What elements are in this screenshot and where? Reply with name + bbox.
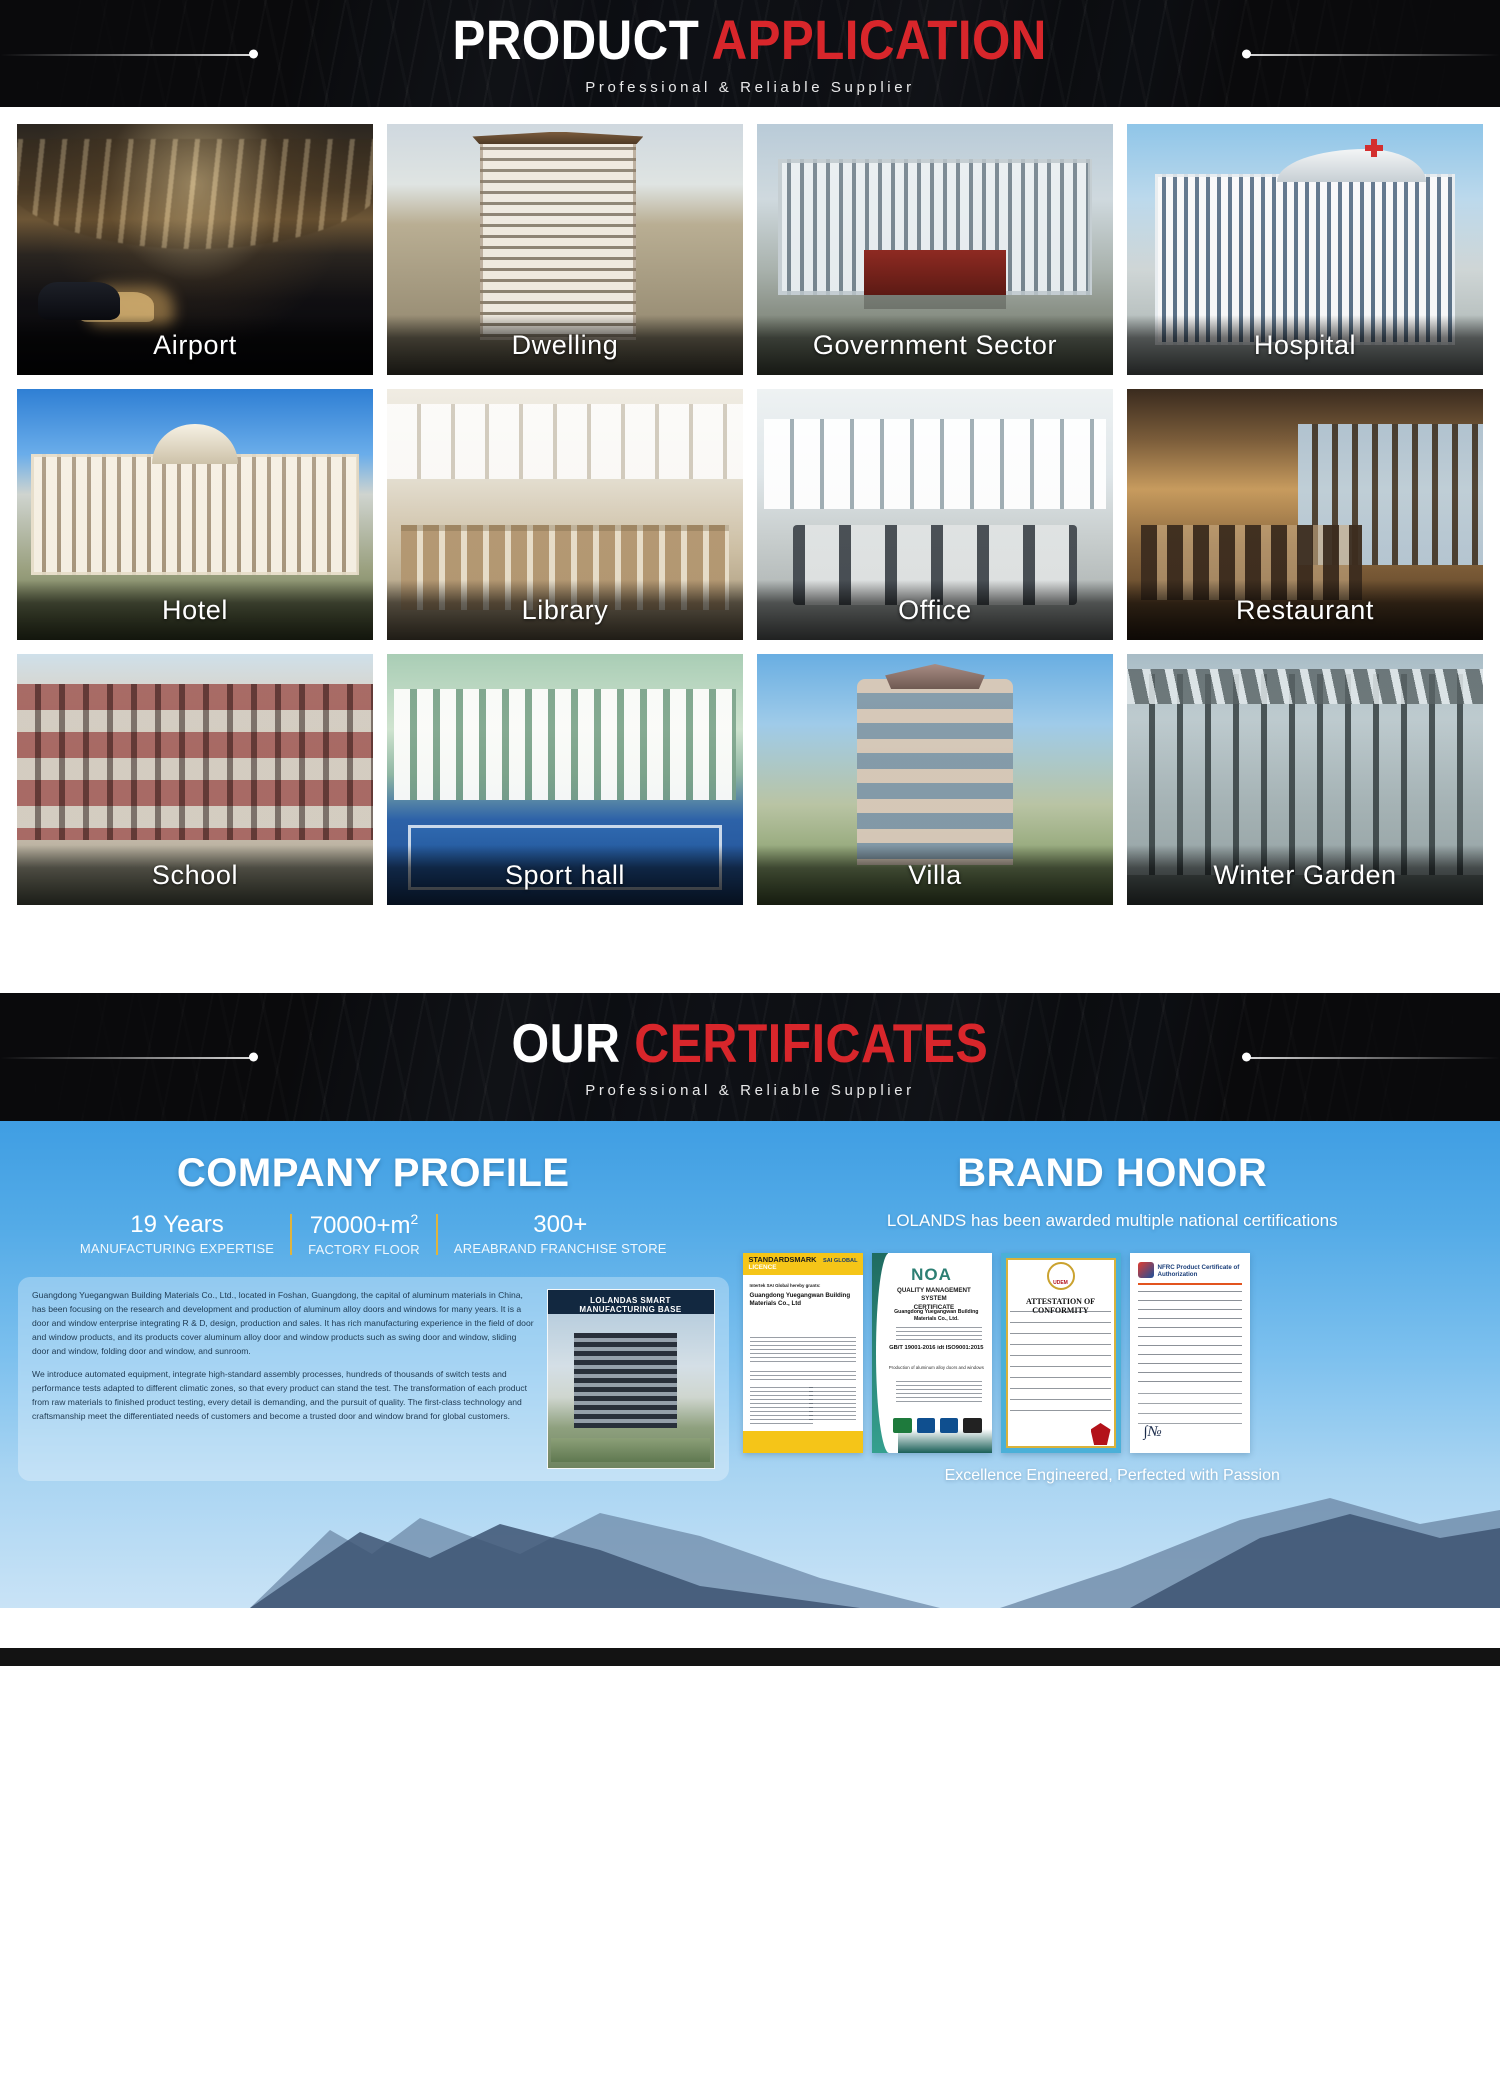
page-subtitle: Professional & Reliable Supplier <box>412 79 1087 96</box>
application-card[interactable]: Hospital <box>1127 124 1483 375</box>
footer-spacer <box>0 1608 1500 1648</box>
grant-text: Intertek SAI Global hereby grants: <box>750 1283 856 1288</box>
stat-years: 19 Years MANUFACTURING EXPERTISE <box>64 1212 290 1257</box>
application-card[interactable]: Hotel <box>17 389 373 640</box>
stat-factory-value: 70000+m2 <box>308 1212 420 1239</box>
application-card[interactable]: Office <box>757 389 1113 640</box>
noa-logo: NOA <box>872 1265 992 1285</box>
nfrc-logo-icon <box>1138 1262 1154 1278</box>
page-title-red: APPLICATION <box>712 8 1047 71</box>
company-profile-card: Guangdong Yuegangwan Building Materials … <box>18 1277 729 1481</box>
factory-photo-image <box>548 1314 714 1468</box>
certificate-udem-conformity[interactable]: ATTESTATION OF CONFORMITY <box>1001 1253 1121 1453</box>
application-label: Dwelling <box>387 315 743 375</box>
company-profile-title: COMPANY PROFILE <box>18 1151 729 1196</box>
company-profile-paragraph-1: Guangdong Yuegangwan Building Materials … <box>32 1289 535 1359</box>
brand-honor-title: BRAND HONOR <box>743 1151 1483 1196</box>
application-card[interactable]: Winter Garden <box>1127 654 1483 905</box>
certificate-standardsmark[interactable]: STANDARDSMARK LICENCE SAI GLOBAL Interte… <box>743 1253 863 1453</box>
udem-seal-icon <box>1047 1262 1075 1290</box>
udem-detail-rows <box>1010 1311 1111 1417</box>
scheme-line <box>750 1371 856 1381</box>
stat-factory-label: FACTORY FLOOR <box>308 1242 420 1257</box>
certificates-title-red: CERTIFICATES <box>634 1012 988 1074</box>
certificate-header-band: STANDARDSMARK LICENCE SAI GLOBAL <box>743 1253 863 1275</box>
sai-global-logo: SAI GLOBAL <box>823 1258 858 1264</box>
certificate-thumbnails: STANDARDSMARK LICENCE SAI GLOBAL Interte… <box>743 1253 1483 1453</box>
application-card[interactable]: Government Sector <box>757 124 1113 375</box>
our-certificates-banner: OUR CERTIFICATES Professional & Reliable… <box>0 993 1500 1121</box>
page-title-white: PRODUCT <box>453 8 712 71</box>
stat-stores-label: AREABRAND FRANCHISE STORE <box>454 1241 667 1256</box>
bottom-strip <box>0 1648 1500 1666</box>
company-profile-column: COMPANY PROFILE 19 Years MANUFACTURING E… <box>18 1151 729 1485</box>
application-card[interactable]: Airport <box>17 124 373 375</box>
application-label: School <box>17 845 373 905</box>
application-label: Villa <box>757 845 1113 905</box>
certificate-noa-iso9001[interactable]: NOA QUALITY MANAGEMENT SYSTEMCERTIFICATE… <box>872 1253 992 1453</box>
application-card[interactable]: School <box>17 654 373 905</box>
application-grid-section: AirportDwellingGovernment SectorHospital… <box>0 107 1500 905</box>
application-label: Sport hall <box>387 845 743 905</box>
application-card[interactable]: Dwelling <box>387 124 743 375</box>
noa-address-lines <box>896 1327 982 1341</box>
nfrc-signature: ∫№ <box>1144 1424 1162 1441</box>
product-application-banner: PRODUCT APPLICATION Professional & Relia… <box>0 0 1500 107</box>
detail-lines <box>809 1387 856 1421</box>
certificates-subtitle: Professional & Reliable Supplier <box>479 1082 1021 1099</box>
qr-code <box>963 1418 981 1433</box>
noa-company: Guangdong Yuegangwan Building Materials … <box>888 1309 984 1323</box>
nfrc-field-rows <box>1138 1291 1242 1383</box>
stat-factory-floor: 70000+m2 FACTORY FLOOR <box>292 1212 436 1257</box>
certificate-company: Guangdong Yuegangwan Building Materials … <box>750 1292 856 1308</box>
application-label: Hospital <box>1127 315 1483 375</box>
factory-photo: LOLANDAS SMART MANUFACTURING BASE <box>547 1289 715 1469</box>
company-certificates-panel: COMPANY PROFILE 19 Years MANUFACTURING E… <box>0 1121 1500 1608</box>
ias-mark <box>940 1418 958 1433</box>
nfrc-divider <box>1138 1283 1242 1285</box>
certificate-footer-band <box>743 1431 863 1453</box>
application-label: Restaurant <box>1127 580 1483 640</box>
cnas-mark <box>893 1418 911 1433</box>
application-label: Airport <box>17 315 373 375</box>
application-label: Library <box>387 580 743 640</box>
stat-factory-unit: 2 <box>410 1211 418 1227</box>
certificates-title: OUR CERTIFICATES <box>512 1016 989 1071</box>
stat-stores: 300+ AREABRAND FRANCHISE STORE <box>438 1212 683 1257</box>
application-card[interactable]: Library <box>387 389 743 640</box>
brand-tagline: Excellence Engineered, Perfected with Pa… <box>743 1467 1483 1485</box>
company-stats: 19 Years MANUFACTURING EXPERTISE 70000+m… <box>18 1212 729 1257</box>
noa-accreditation-marks <box>893 1418 982 1433</box>
standard-lines <box>750 1387 813 1427</box>
company-profile-text: Guangdong Yuegangwan Building Materials … <box>32 1289 535 1469</box>
application-card[interactable]: Villa <box>757 654 1113 905</box>
iaf-mark <box>917 1418 935 1433</box>
stat-years-value: 19 Years <box>80 1212 274 1238</box>
company-profile-paragraph-2: We introduce automated equipment, integr… <box>32 1368 535 1424</box>
certificates-title-white: OUR <box>512 1012 635 1074</box>
standardsmark-title: STANDARDSMARK <box>749 1255 817 1264</box>
page-title: PRODUCT APPLICATION <box>453 12 1047 68</box>
application-grid: AirportDwellingGovernment SectorHospital… <box>17 124 1483 905</box>
stat-years-label: MANUFACTURING EXPERTISE <box>80 1241 274 1256</box>
application-card[interactable]: Restaurant <box>1127 389 1483 640</box>
noa-detail-lines <box>896 1381 982 1405</box>
address-lines <box>750 1337 856 1363</box>
noa-scope: Production of aluminum alloy doors and w… <box>888 1365 984 1370</box>
noa-standard: GB/T 19001-2016 idt ISO9001:2015 <box>888 1345 984 1351</box>
application-label: Office <box>757 580 1113 640</box>
brand-honor-column: BRAND HONOR LOLANDS has been awarded mul… <box>743 1151 1483 1485</box>
brand-honor-subtitle: LOLANDS has been awarded multiple nation… <box>743 1210 1483 1233</box>
nfrc-title: NFRC Product Certificate of Authorizatio… <box>1158 1264 1245 1278</box>
application-label: Government Sector <box>757 315 1113 375</box>
stat-divider <box>290 1214 292 1255</box>
certificate-nfrc[interactable]: NFRC Product Certificate of Authorizatio… <box>1130 1253 1250 1453</box>
standardsmark-subtitle: LICENCE <box>749 1264 777 1271</box>
medical-cross-icon <box>1365 139 1383 157</box>
application-label: Hotel <box>17 580 373 640</box>
stat-stores-value: 300+ <box>454 1212 667 1238</box>
application-card[interactable]: Sport hall <box>387 654 743 905</box>
certificate-body: Intertek SAI Global hereby grants: Guang… <box>743 1275 863 1431</box>
section-spacer <box>0 905 1500 993</box>
application-label: Winter Garden <box>1127 845 1483 905</box>
stat-divider <box>436 1214 438 1255</box>
